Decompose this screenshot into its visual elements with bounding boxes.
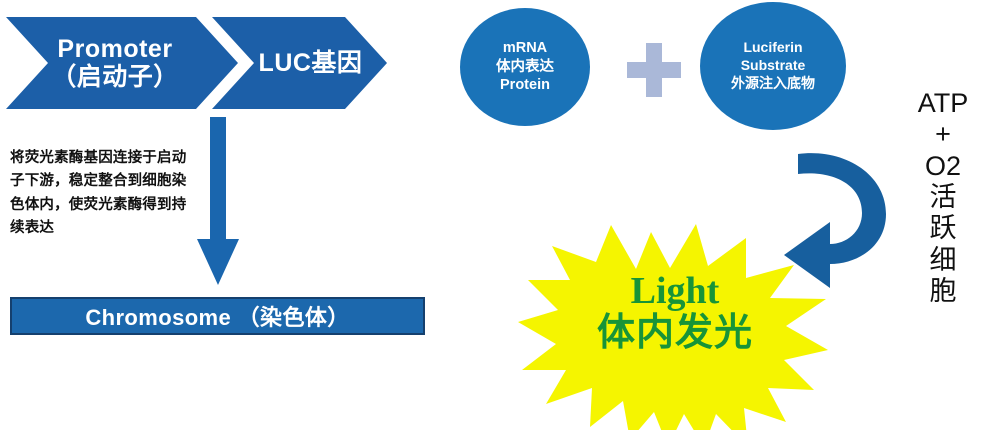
mrna-protein-label: mRNA 体内表达 Protein xyxy=(496,39,554,95)
chromosome-bar: Chromosome （染色体） xyxy=(10,297,425,335)
construct-description: 将荧光素酶基因连接于启动子下游，稳定整合到细胞染色体内，使荧光素酶得到持续表达 xyxy=(10,147,190,241)
luc-gene-chevron: LUC基因 xyxy=(212,17,387,109)
chromosome-label: Chromosome （染色体） xyxy=(85,300,349,332)
starburst-icon xyxy=(518,222,828,430)
plus-icon xyxy=(627,43,681,97)
luciferin-substrate-bubble: Luciferin Substrate 外源注入底物 xyxy=(700,2,846,130)
promoter-chevron: Promoter （启动子） xyxy=(6,17,238,109)
luciferin-substrate-label: Luciferin Substrate 外源注入底物 xyxy=(731,39,815,93)
down-arrow-icon xyxy=(196,117,240,287)
promoter-label: Promoter （启动子） xyxy=(51,35,179,91)
figure-canvas: Promoter （启动子） LUC基因 将荧光素酶基因连接于启动子下游，稳定整… xyxy=(0,0,1000,430)
mrna-protein-bubble: mRNA 体内表达 Protein xyxy=(460,8,590,126)
luc-gene-label: LUC基因 xyxy=(259,49,363,77)
